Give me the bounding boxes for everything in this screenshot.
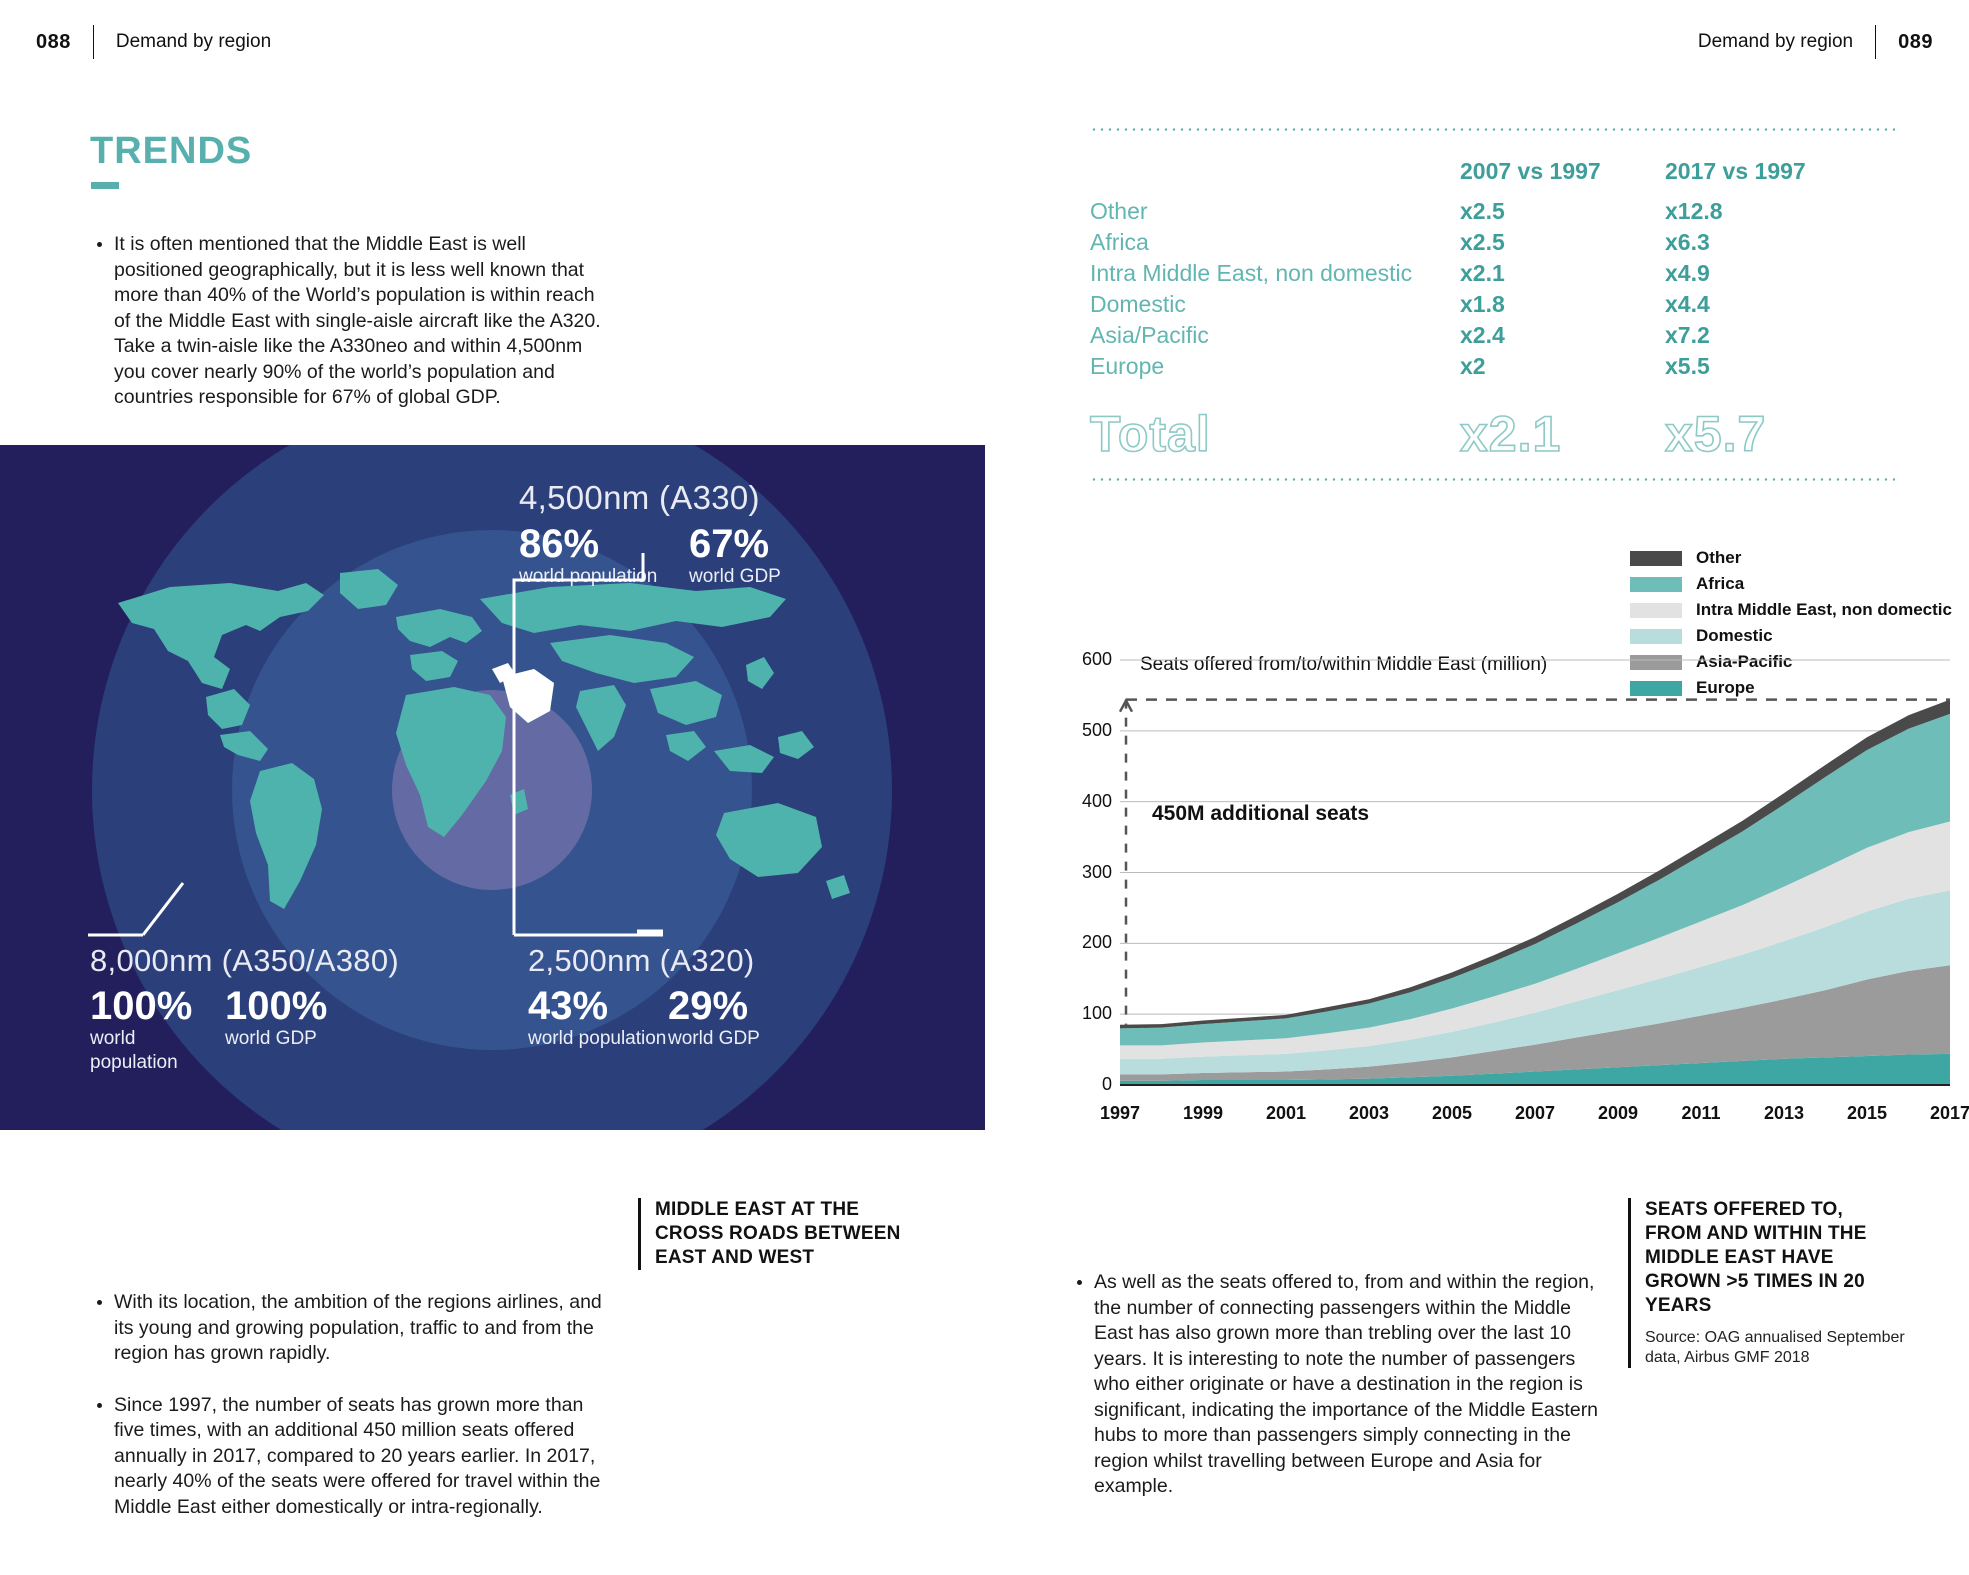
chart-x-tick: 2009 — [1583, 1103, 1653, 1124]
total-label: Total — [1090, 405, 1460, 463]
header-label-left: Demand by region — [116, 31, 271, 53]
chart-x-tick: 2013 — [1749, 1103, 1819, 1124]
table-cell-2007: x2.5 — [1460, 198, 1665, 225]
table-cell-2017: x6.3 — [1665, 229, 1870, 256]
right-bottom-bullet-list: As well as the seats offered to, from an… — [1075, 1270, 1600, 1526]
page-folio-left: 088 — [36, 31, 71, 54]
table-header-cell: 2017 vs 1997 — [1665, 158, 1870, 185]
table-header-cell: 2007 vs 1997 — [1460, 158, 1665, 185]
figure-caption-right: SEATS OFFERED TO, FROM AND WITHIN THE MI… — [1628, 1198, 1905, 1368]
chart-x-tick: 2007 — [1500, 1103, 1570, 1124]
reach-callout-2500nm: 2,500nm (A320) 43% world population 29% … — [528, 943, 760, 1051]
table-cell-region: Other — [1090, 198, 1460, 225]
chart-x-tick: 2003 — [1334, 1103, 1404, 1124]
reach-stat: 100% world population — [90, 985, 225, 1075]
chart-x-tick: 2001 — [1251, 1103, 1321, 1124]
reach-stat: 29% world GDP — [668, 985, 760, 1051]
table-cell-2007: x1.8 — [1460, 291, 1665, 318]
seats-offered-area-chart — [1060, 640, 1960, 1140]
chart-x-tick: 1997 — [1085, 1103, 1155, 1124]
table-header-row: 2007 vs 1997 2017 vs 1997 — [1090, 158, 1900, 198]
total-2007: x2.1 — [1460, 405, 1665, 463]
left-bottom-bullet-list: With its location, the ambition of the r… — [95, 1290, 615, 1546]
table-row: Asia/Pacific x2.4 x7.2 — [1090, 322, 1900, 353]
list-item: With its location, the ambition of the r… — [95, 1290, 615, 1367]
table-rule-bottom — [1090, 478, 1895, 481]
page-folio-right: 089 — [1898, 31, 1933, 54]
running-head-right: Demand by region 089 — [1698, 24, 1933, 60]
table-total-row: Total x2.1 x5.7 — [1090, 405, 1900, 463]
table-cell-2017: x5.5 — [1665, 353, 1870, 380]
table-row: Europe x2 x5.5 — [1090, 353, 1900, 384]
caption-title: SEATS OFFERED TO, FROM AND WITHIN THE MI… — [1645, 1198, 1905, 1318]
table-cell-2007: x2.5 — [1460, 229, 1665, 256]
table-row: Other x2.5 x12.8 — [1090, 198, 1900, 229]
reach-stat-row: 100% world population 100% world GDP — [90, 985, 399, 1075]
reach-range-label: 2,500nm (A320) — [528, 943, 760, 979]
table-cell-region: Africa — [1090, 229, 1460, 256]
legend-item: Other — [1630, 545, 1952, 571]
table-cell-2017: x12.8 — [1665, 198, 1870, 225]
table-row: Intra Middle East, non domestic x2.1 x4.… — [1090, 260, 1900, 291]
middle-east-reach-infographic: 4,500nm (A330) 86% world population 67% … — [0, 445, 985, 1130]
table-cell-region: Intra Middle East, non domestic — [1090, 260, 1460, 287]
header-divider-right — [1875, 25, 1876, 59]
figure-caption-left: MIDDLE EAST AT THE CROSS ROADS BETWEEN E… — [638, 1198, 905, 1270]
header-divider-left — [93, 25, 94, 59]
header-label-right: Demand by region — [1698, 31, 1853, 53]
chart-y-tick: 600 — [1060, 649, 1112, 670]
table-cell-2017: x7.2 — [1665, 322, 1870, 349]
chart-x-tick: 2017 — [1915, 1103, 1969, 1124]
stat-caption: world GDP — [225, 1027, 327, 1051]
list-item: Since 1997, the number of seats has grow… — [95, 1393, 615, 1521]
chart-annotation: 450M additional seats — [1152, 800, 1369, 827]
reach-stat: 100% world GDP — [225, 985, 327, 1075]
running-head-left: 088 Demand by region — [36, 24, 271, 60]
table-cell-region: Domestic — [1090, 291, 1460, 318]
section-title-trends: TRENDS — [90, 130, 252, 173]
legend-swatch-other — [1630, 551, 1682, 566]
legend-swatch-intra-middle-east — [1630, 603, 1682, 618]
stat-caption: world population — [90, 1027, 225, 1075]
chart-x-tick: 1999 — [1168, 1103, 1238, 1124]
reach-range-label: 8,000nm (A350/A380) — [90, 943, 399, 979]
chart-x-tick: 2015 — [1832, 1103, 1902, 1124]
chart-y-tick: 500 — [1060, 720, 1112, 741]
table-rule-top — [1090, 128, 1895, 131]
chart-y-tick: 400 — [1060, 791, 1112, 812]
stat-value: 100% — [90, 985, 225, 1027]
table-cell-region: Asia/Pacific — [1090, 322, 1460, 349]
table-cell-region: Europe — [1090, 353, 1460, 380]
growth-ratio-table: 2007 vs 1997 2017 vs 1997 Other x2.5 x12… — [1090, 158, 1900, 384]
legend-label: Intra Middle East, non domectic — [1696, 600, 1952, 620]
total-2017: x5.7 — [1665, 405, 1870, 463]
legend-label: Africa — [1696, 574, 1744, 594]
chart-y-tick: 300 — [1060, 862, 1112, 883]
legend-swatch-africa — [1630, 577, 1682, 592]
chart-y-tick: 200 — [1060, 932, 1112, 953]
chart-x-tick: 2011 — [1666, 1103, 1736, 1124]
legend-item: Intra Middle East, non domectic — [1630, 597, 1952, 623]
table-cell-2007: x2.1 — [1460, 260, 1665, 287]
stat-value: 29% — [668, 985, 760, 1027]
stat-value: 100% — [225, 985, 327, 1027]
stat-caption: world GDP — [668, 1027, 760, 1051]
legend-label: Other — [1696, 548, 1741, 568]
table-row: Africa x2.5 x6.3 — [1090, 229, 1900, 260]
legend-item: Africa — [1630, 571, 1952, 597]
reach-stat-row: 43% world population 29% world GDP — [528, 985, 760, 1051]
reach-stat: 43% world population — [528, 985, 668, 1051]
chart-y-tick: 0 — [1060, 1074, 1112, 1095]
table-cell-2017: x4.4 — [1665, 291, 1870, 318]
chart-y-tick: 100 — [1060, 1003, 1112, 1024]
stat-value: 43% — [528, 985, 668, 1027]
reach-callout-8000nm: 8,000nm (A350/A380) 100% world populatio… — [90, 943, 399, 1075]
caption-source: Source: OAG annualised September data, A… — [1645, 1328, 1905, 1368]
list-item: As well as the seats offered to, from an… — [1075, 1270, 1600, 1500]
chart-x-tick: 2005 — [1417, 1103, 1487, 1124]
table-cell-2007: x2.4 — [1460, 322, 1665, 349]
caption-title: MIDDLE EAST AT THE CROSS ROADS BETWEEN E… — [655, 1198, 905, 1270]
section-title-underline — [91, 182, 119, 189]
table-cell-2017: x4.9 — [1665, 260, 1870, 287]
table-cell-2007: x2 — [1460, 353, 1665, 380]
list-item: It is often mentioned that the Middle Ea… — [95, 232, 615, 411]
spread-page: 088 Demand by region Demand by region 08… — [0, 0, 1969, 1575]
table-row: Domestic x1.8 x4.4 — [1090, 291, 1900, 322]
intro-bullet-list: It is often mentioned that the Middle Ea… — [95, 232, 615, 437]
stat-caption: world population — [528, 1027, 668, 1051]
